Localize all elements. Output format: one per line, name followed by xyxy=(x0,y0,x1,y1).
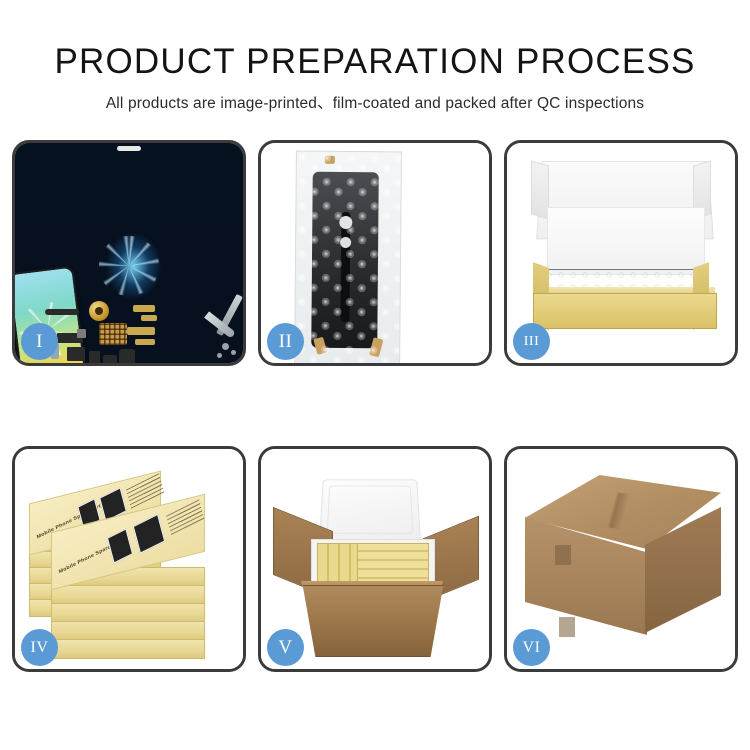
panel-sealed-carton: VI xyxy=(504,446,738,672)
camera-module xyxy=(89,351,100,363)
ic-chip-b xyxy=(67,347,85,361)
panel-products-and-parts: I xyxy=(12,140,246,366)
shatter-pattern xyxy=(15,143,81,269)
cracked-screen-panel xyxy=(15,143,81,269)
earpiece-mesh xyxy=(45,309,79,315)
step-numeral: I xyxy=(36,331,43,353)
panel-open-kraft-box: III xyxy=(504,140,738,366)
box-spec-lines-back xyxy=(126,472,164,508)
flex-cable-a xyxy=(133,305,155,312)
step-badge-5: V xyxy=(267,629,304,666)
box-screen-image-front-2 xyxy=(133,514,165,554)
bubble-wrap-bag xyxy=(294,151,402,363)
step-badge-4: IV xyxy=(21,629,58,666)
bubble-outline-texture xyxy=(295,152,401,363)
stack-box-front-3 xyxy=(51,603,205,623)
panel-stacked-retail-boxes: Mobile Phone Spare Parts Mobile Phone Sp… xyxy=(12,446,246,672)
process-steps-grid: I II xyxy=(12,140,738,672)
flex-cable-c xyxy=(127,327,155,335)
step-numeral: V xyxy=(278,637,292,659)
page-title: PRODUCT PREPARATION PROCESS xyxy=(0,0,750,81)
box-screen-image-front-1 xyxy=(107,528,133,563)
header: PRODUCT PREPARATION PROCESS All products… xyxy=(0,0,750,113)
foam-lid-open xyxy=(319,479,421,541)
speaker-box xyxy=(119,349,135,363)
carton-body xyxy=(293,585,453,657)
stack-box-front-2 xyxy=(51,585,205,605)
step-numeral: IV xyxy=(31,639,49,657)
yellow-boxes-row-2 xyxy=(357,543,429,587)
step-numeral: II xyxy=(279,331,293,353)
gold-contact-grid-chip xyxy=(99,323,127,345)
white-foam-sheet xyxy=(547,207,705,275)
flex-cable-b xyxy=(141,315,157,321)
vibration-motor xyxy=(103,355,117,363)
step-numeral: III xyxy=(524,334,540,350)
screws-group xyxy=(222,343,229,350)
carton-tape-lower xyxy=(559,617,575,637)
panel-bubble-wrapped-part: II xyxy=(258,140,492,366)
step-numeral: VI xyxy=(523,639,541,657)
step-badge-1: I xyxy=(21,323,58,360)
product-preparation-infographic: PRODUCT PREPARATION PROCESS All products… xyxy=(0,0,750,750)
flex-cable-d xyxy=(135,339,155,345)
stack-box-front-5 xyxy=(51,639,205,659)
box-spec-lines-front xyxy=(166,499,204,535)
step-badge-6: VI xyxy=(513,629,550,666)
gold-speaker-component xyxy=(89,301,109,321)
box-front-panel xyxy=(533,293,717,329)
screw-a xyxy=(77,329,86,338)
panel-carton-with-foam-insert: V xyxy=(258,446,492,672)
carton-tape-upper xyxy=(555,545,571,565)
step-badge-2: II xyxy=(267,323,304,360)
stack-box-front-4 xyxy=(51,621,205,641)
page-subtitle: All products are image-printed、film-coat… xyxy=(0,81,750,113)
step-badge-3: III xyxy=(513,323,550,360)
